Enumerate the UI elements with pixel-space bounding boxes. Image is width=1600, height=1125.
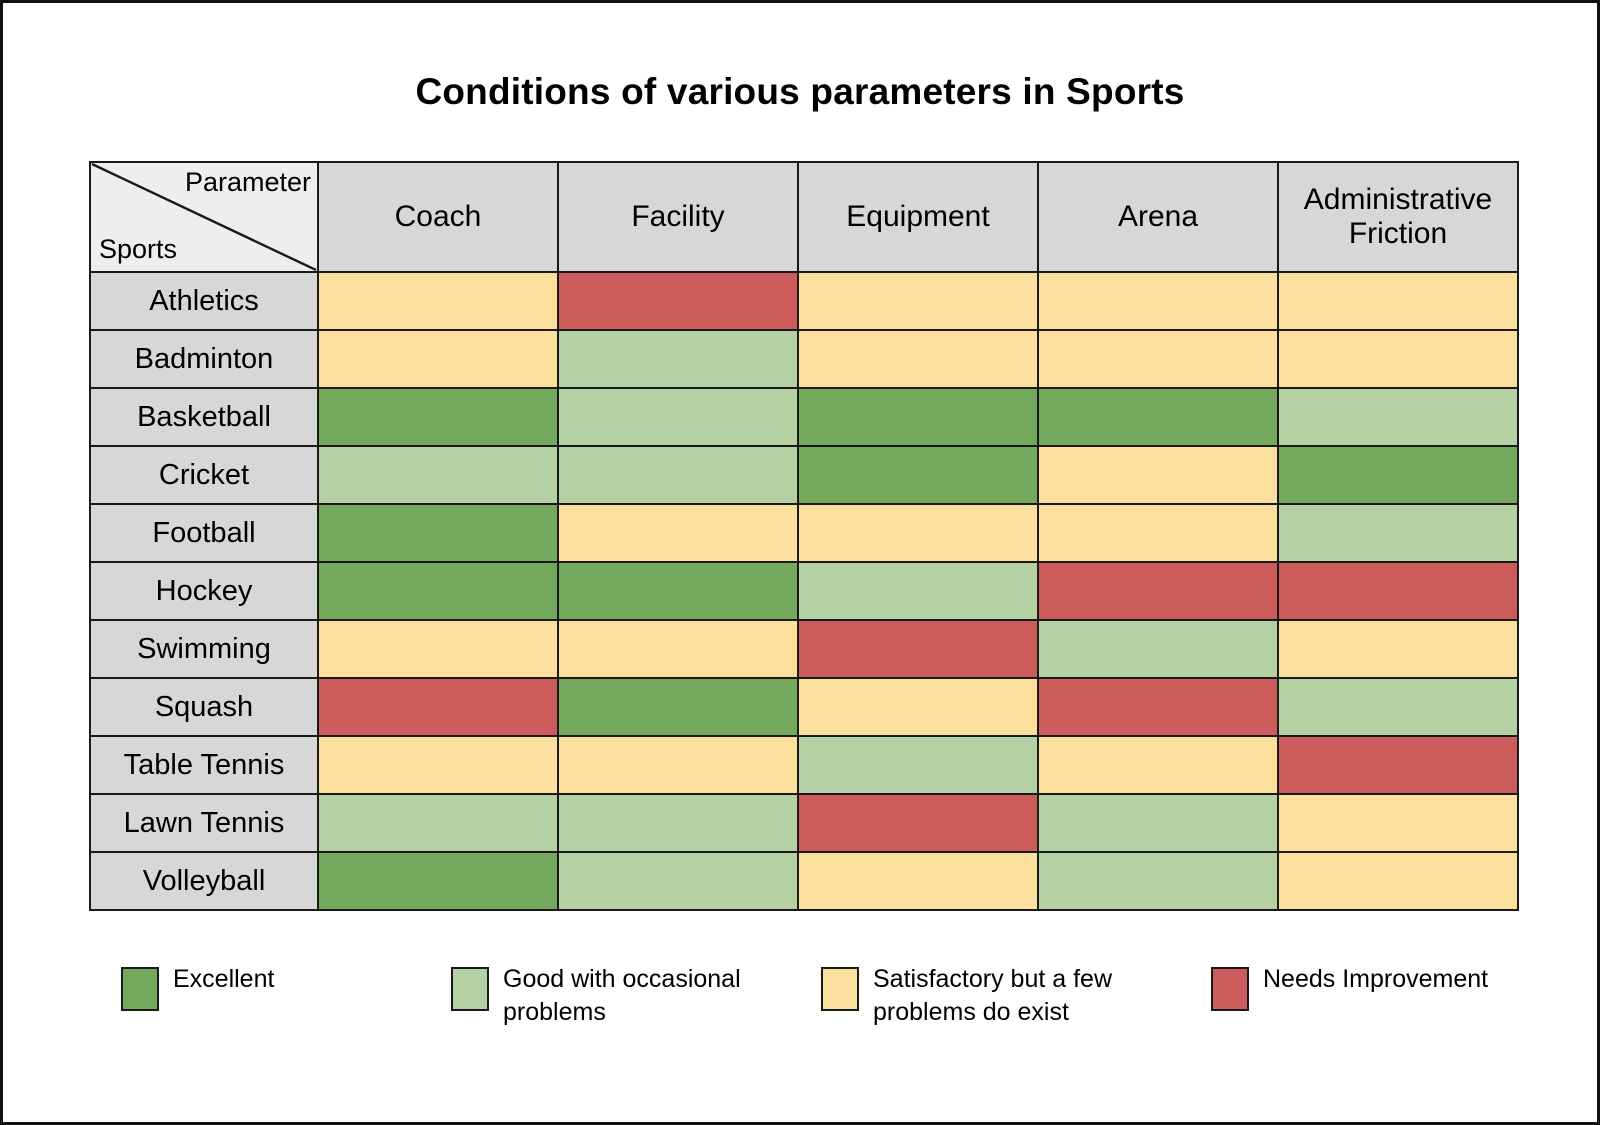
heatmap-cell — [1038, 852, 1278, 910]
legend-swatch-needs-improvement — [1211, 967, 1249, 1011]
column-header-facility: Facility — [558, 162, 798, 272]
table-row: Lawn Tennis — [90, 794, 1518, 852]
heatmap-cell — [798, 272, 1038, 330]
heatmap-cell — [318, 852, 558, 910]
heatmap-cell — [1038, 678, 1278, 736]
table-row: Badminton — [90, 330, 1518, 388]
legend-item-needs-improvement: Needs Improvement — [1211, 961, 1511, 1011]
heatmap-cell — [798, 678, 1038, 736]
legend-swatch-satisfactory — [821, 967, 859, 1011]
heatmap-cell — [798, 794, 1038, 852]
column-axis-label: Parameter — [185, 167, 311, 198]
heatmap-cell — [318, 678, 558, 736]
heatmap-cell — [798, 504, 1038, 562]
row-header-football: Football — [90, 504, 318, 562]
heatmap-cell — [558, 736, 798, 794]
heatmap-cell — [1278, 794, 1518, 852]
heatmap-cell — [318, 330, 558, 388]
heatmap-cell — [1038, 272, 1278, 330]
row-header-swimming: Swimming — [90, 620, 318, 678]
header-row: Parameter Sports Coach Facility Equipmen… — [90, 162, 1518, 272]
heatmap-cell — [318, 794, 558, 852]
heatmap-cell — [1038, 620, 1278, 678]
row-header-lawn-tennis: Lawn Tennis — [90, 794, 318, 852]
heatmap-cell — [318, 736, 558, 794]
heatmap-cell — [558, 678, 798, 736]
legend-swatch-good — [451, 967, 489, 1011]
row-header-cricket: Cricket — [90, 446, 318, 504]
row-header-table-tennis: Table Tennis — [90, 736, 318, 794]
row-header-athletics: Athletics — [90, 272, 318, 330]
legend-item-excellent: Excellent — [121, 961, 451, 1011]
figure-container: Conditions of various parameters in Spor… — [0, 0, 1600, 1125]
heatmap-cell — [1278, 330, 1518, 388]
table-row: Basketball — [90, 388, 1518, 446]
heatmap-cell — [798, 736, 1038, 794]
heatmap-cell — [1038, 736, 1278, 794]
heatmap-cell — [558, 852, 798, 910]
table-row: Volleyball — [90, 852, 1518, 910]
legend-label-satisfactory: Satisfactory but a few problems do exist — [873, 961, 1211, 1029]
corner-header-cell: Parameter Sports — [90, 162, 318, 272]
row-axis-label: Sports — [99, 234, 177, 265]
heatmap-cell — [1038, 446, 1278, 504]
legend-label-good: Good with occasional problems — [503, 961, 821, 1029]
heatmap-cell — [1278, 388, 1518, 446]
table-row: Athletics — [90, 272, 1518, 330]
heatmap-cell — [1278, 736, 1518, 794]
row-header-hockey: Hockey — [90, 562, 318, 620]
table-row: Cricket — [90, 446, 1518, 504]
table-row: Football — [90, 504, 1518, 562]
heatmap-cell — [558, 446, 798, 504]
heatmap-cell — [1038, 562, 1278, 620]
heatmap-cell — [1278, 504, 1518, 562]
heatmap-cell — [798, 388, 1038, 446]
table-row: Hockey — [90, 562, 1518, 620]
heatmap-cell — [558, 504, 798, 562]
heatmap-cell — [798, 446, 1038, 504]
heatmap-cell — [558, 562, 798, 620]
heatmap-cell — [558, 620, 798, 678]
heatmap-cell — [558, 794, 798, 852]
heatmap-cell — [1278, 620, 1518, 678]
heatmap-cell — [318, 446, 558, 504]
heatmap-cell — [1038, 794, 1278, 852]
heatmap-cell — [1278, 852, 1518, 910]
column-header-equipment: Equipment — [798, 162, 1038, 272]
row-header-basketball: Basketball — [90, 388, 318, 446]
legend: Excellent Good with occasional problems … — [121, 961, 1521, 1029]
heatmap-cell — [318, 388, 558, 446]
chart-title: Conditions of various parameters in Spor… — [3, 71, 1597, 113]
legend-item-satisfactory: Satisfactory but a few problems do exist — [821, 961, 1211, 1029]
column-header-coach: Coach — [318, 162, 558, 272]
table-header: Parameter Sports Coach Facility Equipmen… — [90, 162, 1518, 272]
heatmap-cell — [558, 330, 798, 388]
legend-item-good: Good with occasional problems — [451, 961, 821, 1029]
heatmap-table: Parameter Sports Coach Facility Equipmen… — [89, 161, 1519, 911]
heatmap-cell — [318, 620, 558, 678]
heatmap-cell — [1278, 678, 1518, 736]
legend-label-needs-improvement: Needs Improvement — [1263, 961, 1488, 996]
row-header-volleyball: Volleyball — [90, 852, 318, 910]
legend-label-excellent: Excellent — [173, 961, 274, 996]
heatmap-cell — [1038, 504, 1278, 562]
column-header-arena: Arena — [1038, 162, 1278, 272]
heatmap-cell — [798, 330, 1038, 388]
heatmap-cell — [318, 272, 558, 330]
heatmap-cell — [1278, 562, 1518, 620]
table-row: Swimming — [90, 620, 1518, 678]
heatmap-cell — [1278, 272, 1518, 330]
table-row: Table Tennis — [90, 736, 1518, 794]
heatmap-cell — [798, 852, 1038, 910]
heatmap-cell — [318, 504, 558, 562]
column-header-administrative-friction: Administrative Friction — [1278, 162, 1518, 272]
legend-swatch-excellent — [121, 967, 159, 1011]
heatmap-cell — [798, 562, 1038, 620]
table-row: Squash — [90, 678, 1518, 736]
row-header-squash: Squash — [90, 678, 318, 736]
heatmap-cell — [1278, 446, 1518, 504]
heatmap-cell — [558, 388, 798, 446]
heatmap-cell — [1038, 388, 1278, 446]
heatmap-cell — [318, 562, 558, 620]
heatmap-cell — [798, 620, 1038, 678]
table-body: AthleticsBadmintonBasketballCricketFootb… — [90, 272, 1518, 910]
heatmap-cell — [558, 272, 798, 330]
row-header-badminton: Badminton — [90, 330, 318, 388]
heatmap-cell — [1038, 330, 1278, 388]
